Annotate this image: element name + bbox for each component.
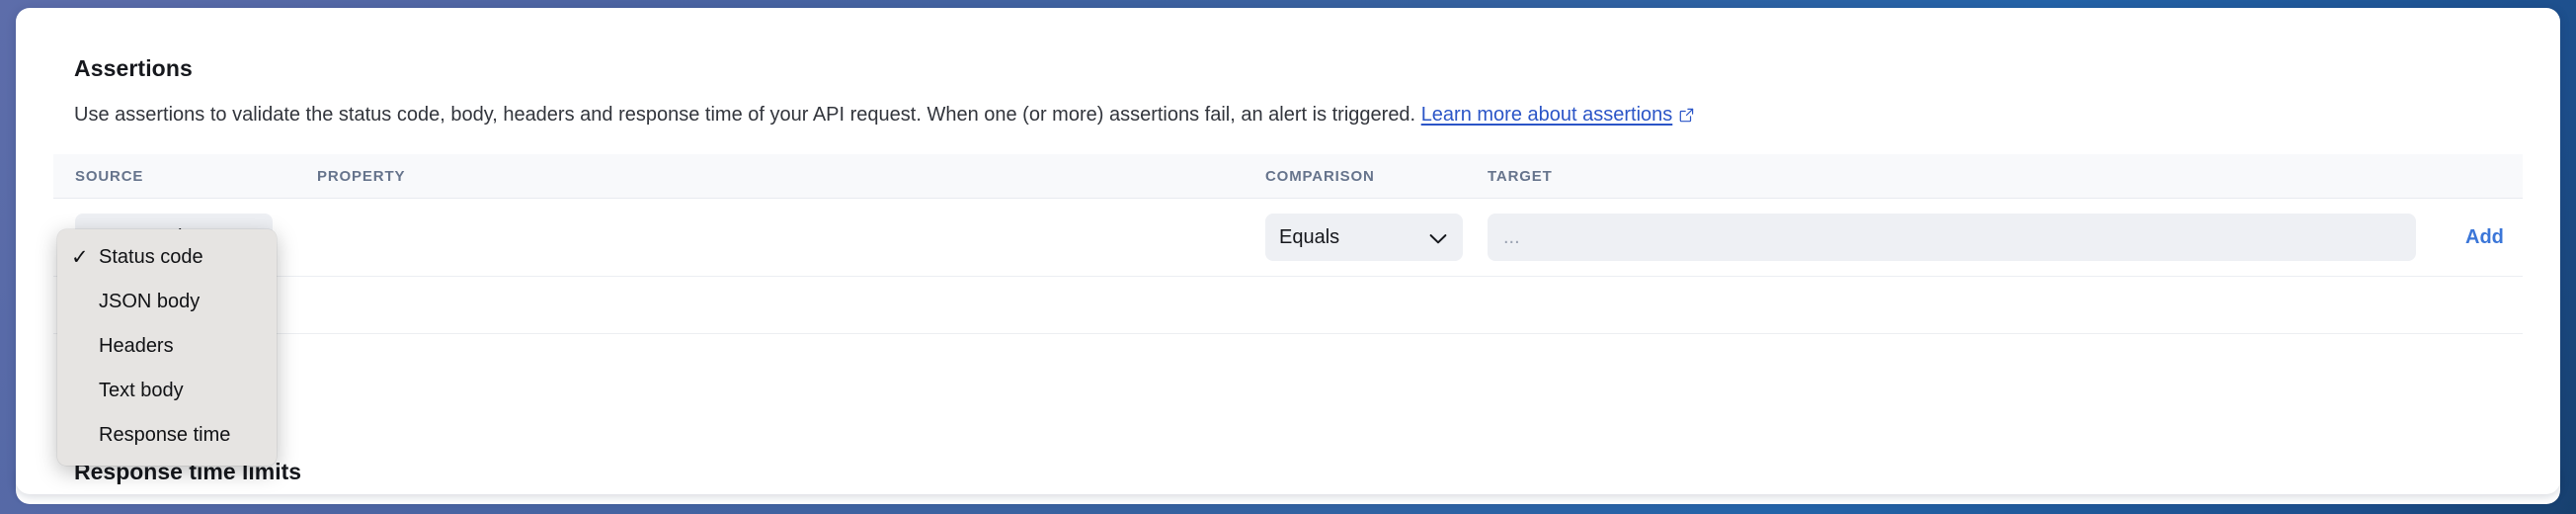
learn-more-link[interactable]: Learn more about assertions <box>1421 104 1673 126</box>
menu-item-headers[interactable]: Headers <box>57 324 277 369</box>
table-row-empty <box>53 277 2523 333</box>
menu-item-label: JSON body <box>99 291 200 313</box>
menu-item-label: Response time <box>99 424 230 447</box>
learn-more-link-label: Learn more about assertions <box>1421 104 1673 126</box>
table-row-empty <box>53 334 2523 390</box>
page-title: Assertions <box>74 57 193 80</box>
assertions-card: Assertions Use assertions to validate th… <box>16 8 2560 494</box>
comparison-cell: Equals <box>1265 214 1488 261</box>
menu-item-status-code[interactable]: ✓ Status code <box>57 235 277 280</box>
menu-item-json-body[interactable]: JSON body <box>57 280 277 324</box>
source-dropdown-menu[interactable]: ✓ Status code JSON body Headers Text bod… <box>57 229 277 466</box>
target-cell: Add <box>1488 214 2523 261</box>
comparison-select-wrap[interactable]: Equals <box>1265 214 1463 261</box>
section-description: Use assertions to validate the status co… <box>74 103 1694 127</box>
column-header-comparison: COMPARISON <box>1265 168 1488 185</box>
menu-item-text-body[interactable]: Text body <box>57 369 277 413</box>
menu-item-response-time[interactable]: Response time <box>57 413 277 458</box>
menu-item-label: Headers <box>99 335 174 358</box>
assertions-table: SOURCE PROPERTY COMPARISON TARGET Status… <box>53 154 2523 390</box>
target-input[interactable] <box>1488 214 2416 261</box>
external-link-icon <box>1679 105 1694 120</box>
assertions-section: Assertions Use assertions to validate th… <box>16 8 2560 494</box>
table-row: Status code Equals <box>53 199 2523 276</box>
column-header-target: TARGET <box>1488 168 2523 185</box>
table-header-row: SOURCE PROPERTY COMPARISON TARGET <box>53 154 2523 199</box>
description-text: Use assertions to validate the status co… <box>74 104 1415 126</box>
add-assertion-button[interactable]: Add <box>2461 220 2508 255</box>
column-header-source: SOURCE <box>75 168 317 185</box>
comparison-select[interactable]: Equals <box>1265 214 1463 261</box>
check-icon: ✓ <box>71 247 99 268</box>
menu-item-label: Status code <box>99 246 203 269</box>
menu-item-label: Text body <box>99 380 184 402</box>
column-header-property: PROPERTY <box>317 168 1265 185</box>
